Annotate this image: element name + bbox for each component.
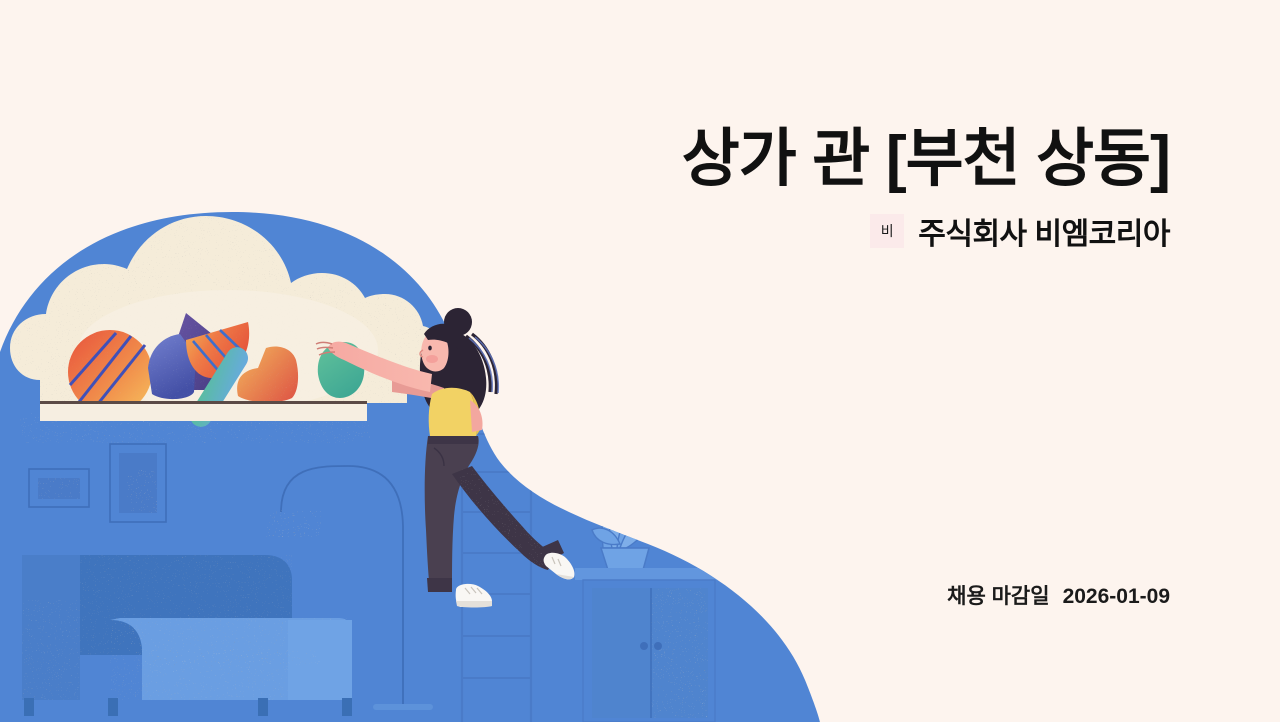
company-logo: 비 (870, 214, 904, 248)
company-name: 주식회사 비엠코리아 (918, 209, 1170, 253)
hero-illustration (0, 0, 1280, 722)
company-row: 비 주식회사 비엠코리아 (410, 209, 1170, 253)
deadline-label: 채용 마감일 (947, 580, 1049, 610)
display-shelf (40, 401, 367, 421)
deadline-value: 2026-01-09 (1063, 585, 1170, 609)
posting-text-block: [부천 상동] 상가 관 비 주식회사 비엠코리아 (410, 124, 1170, 253)
job-posting-card: [부천 상동] 상가 관 비 주식회사 비엠코리아 채용 마감일 2026-01… (0, 0, 1280, 722)
deadline-row: 채용 마감일 2026-01-09 (947, 580, 1170, 610)
page-title: [부천 상동] 상가 관 (410, 124, 1170, 195)
sideboard-cabinet (575, 568, 723, 722)
